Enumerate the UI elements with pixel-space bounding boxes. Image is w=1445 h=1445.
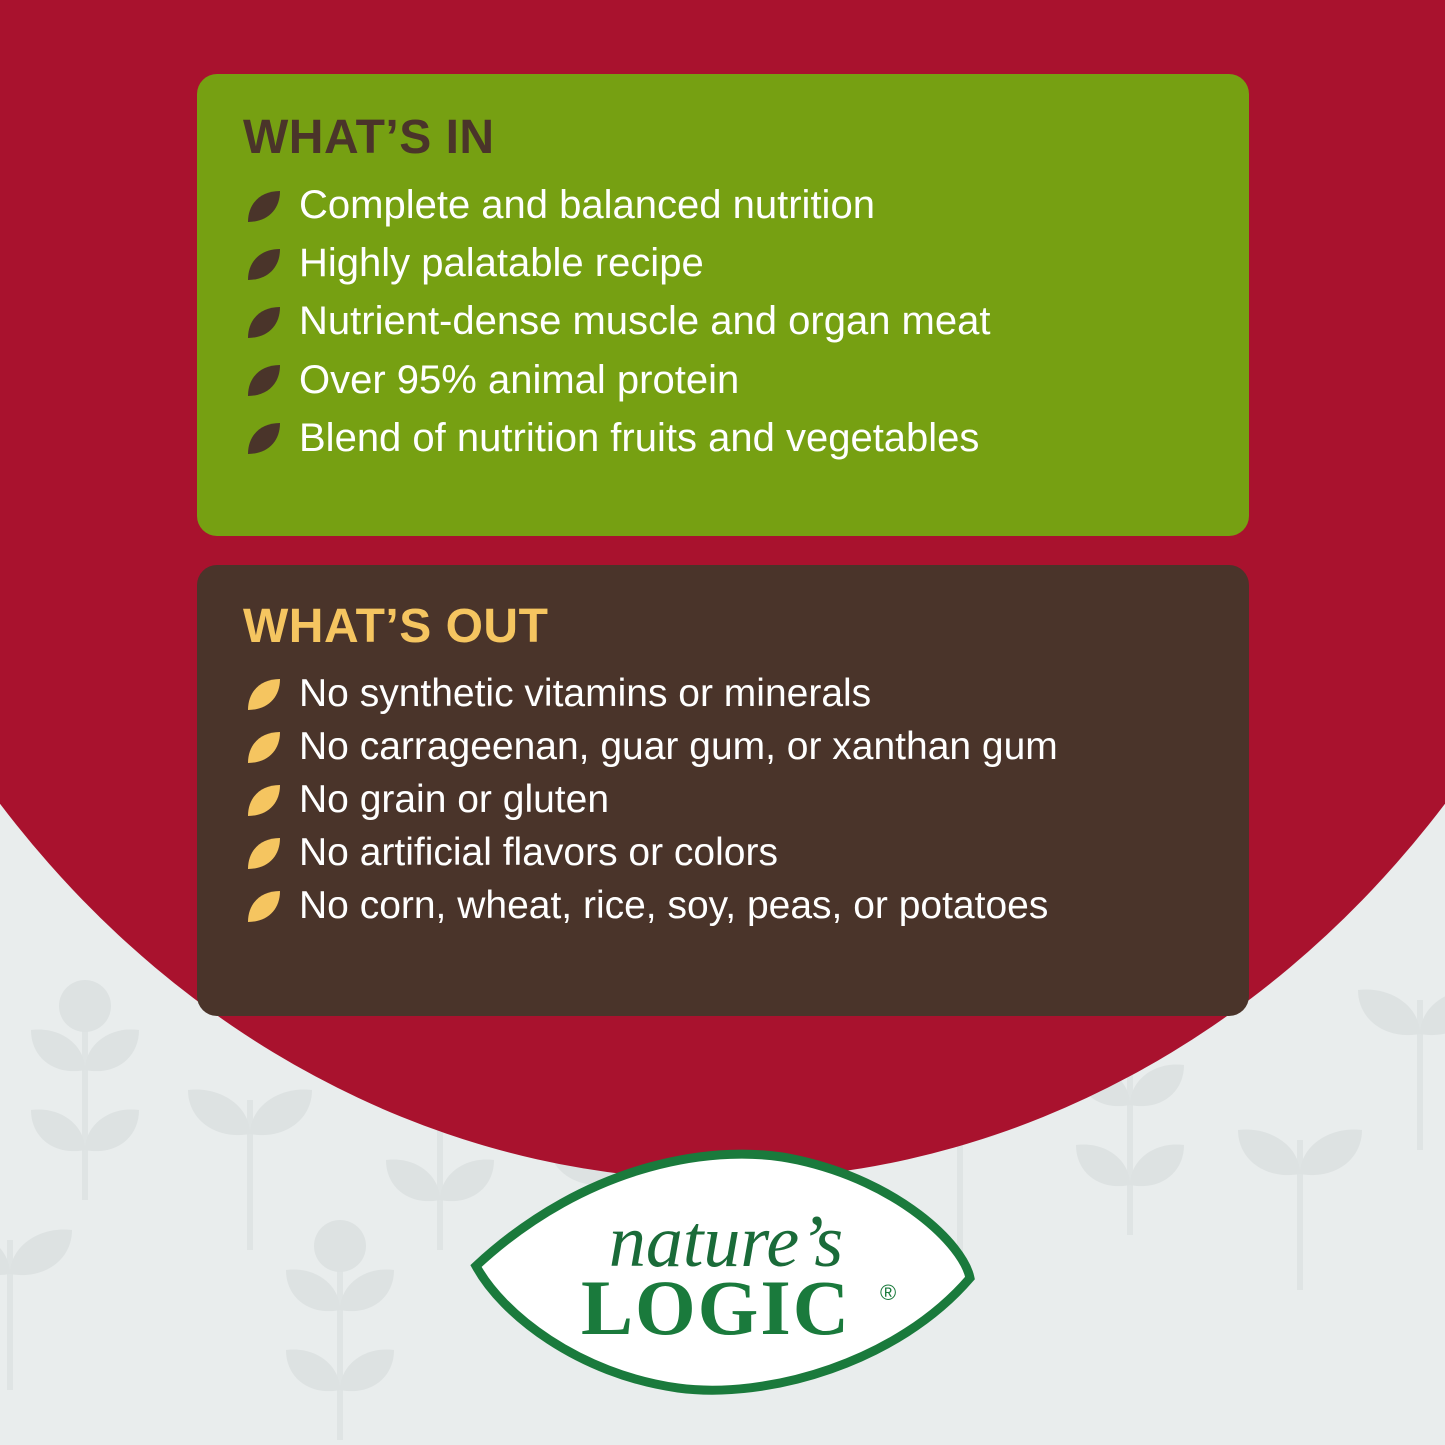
list-item: No corn, wheat, rice, soy, peas, or pota… bbox=[243, 885, 1203, 927]
list-item-label: No carrageenan, guar gum, or xanthan gum bbox=[299, 726, 1058, 768]
leaf-bullet-icon bbox=[243, 779, 285, 821]
brand-logo: nature’s LOGIC ® bbox=[468, 1148, 978, 1398]
whats-out-card: WHAT’S OUT No synthetic vitamins or mine… bbox=[197, 565, 1249, 1016]
list-item-label: Highly palatable recipe bbox=[299, 242, 704, 285]
list-item-label: No corn, wheat, rice, soy, peas, or pota… bbox=[299, 885, 1048, 927]
list-item: Blend of nutrition fruits and vegetables bbox=[243, 417, 1203, 460]
leaf-bullet-icon bbox=[243, 726, 285, 768]
list-item-label: No synthetic vitamins or minerals bbox=[299, 673, 871, 715]
list-item-label: Over 95% animal protein bbox=[299, 359, 739, 402]
leaf-bullet-icon bbox=[243, 301, 285, 343]
leaf-bullet-icon bbox=[243, 185, 285, 227]
leaf-bullet-icon bbox=[243, 417, 285, 459]
list-item: No carrageenan, guar gum, or xanthan gum bbox=[243, 726, 1203, 768]
leaf-bullet-icon bbox=[243, 832, 285, 874]
leaf-bullet-icon bbox=[243, 673, 285, 715]
logo-wordmark-text: LOGIC bbox=[581, 1264, 851, 1351]
registered-trademark-icon: ® bbox=[880, 1280, 896, 1305]
list-item: No synthetic vitamins or minerals bbox=[243, 673, 1203, 715]
list-item-label: No grain or gluten bbox=[299, 779, 609, 821]
leaf-bullet-icon bbox=[243, 359, 285, 401]
whats-out-title: WHAT’S OUT bbox=[243, 603, 1203, 651]
list-item-label: Blend of nutrition fruits and vegetables bbox=[299, 417, 979, 460]
whats-in-list: Complete and balanced nutrition Highly p… bbox=[243, 184, 1203, 460]
list-item: Nutrient-dense muscle and organ meat bbox=[243, 300, 1203, 343]
list-item-label: No artificial flavors or colors bbox=[299, 832, 778, 874]
list-item-label: Complete and balanced nutrition bbox=[299, 184, 875, 227]
list-item: Highly palatable recipe bbox=[243, 242, 1203, 285]
leaf-bullet-icon bbox=[243, 885, 285, 927]
list-item: Over 95% animal protein bbox=[243, 359, 1203, 402]
list-item: Complete and balanced nutrition bbox=[243, 184, 1203, 227]
list-item: No grain or gluten bbox=[243, 779, 1203, 821]
product-info-graphic: WHAT’S IN Complete and balanced nutritio… bbox=[0, 0, 1445, 1445]
whats-in-card: WHAT’S IN Complete and balanced nutritio… bbox=[197, 74, 1249, 536]
leaf-bullet-icon bbox=[243, 243, 285, 285]
whats-out-list: No synthetic vitamins or minerals No car… bbox=[243, 673, 1203, 928]
whats-in-title: WHAT’S IN bbox=[243, 114, 1203, 162]
list-item-label: Nutrient-dense muscle and organ meat bbox=[299, 300, 990, 343]
list-item: No artificial flavors or colors bbox=[243, 832, 1203, 874]
